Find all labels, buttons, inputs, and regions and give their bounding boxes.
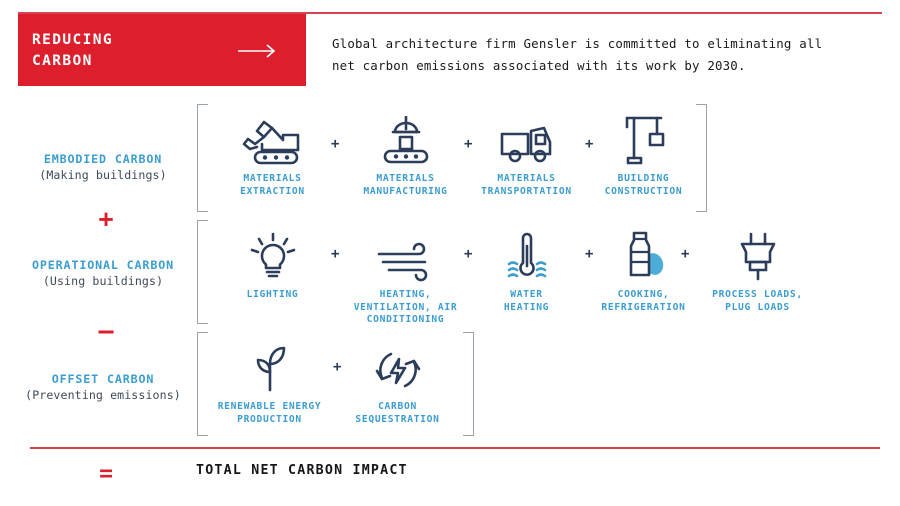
infographic-canvas: REDUCING CARBON Global architecture firm… — [0, 0, 900, 506]
arrow-right-icon — [238, 43, 280, 57]
total-net-carbon-impact-label: TOTAL NET CARBON IMPACT — [196, 463, 408, 478]
page-title: REDUCING CARBON — [32, 30, 113, 72]
lightbulb-icon — [215, 220, 330, 282]
plus-separator: + — [331, 247, 339, 261]
electric-plug-icon — [700, 220, 815, 282]
item-label: MATERIALS EXTRACTION — [215, 173, 330, 198]
item-label: RENEWABLE ENERGY PRODUCTION — [207, 401, 332, 426]
factory-robot-conveyor-icon — [348, 104, 463, 166]
item-label: CARBON SEQUESTRATION — [340, 401, 455, 426]
item-process-plug-loads: PROCESS LOADS, PLUG LOADS — [700, 220, 815, 314]
item-label: PROCESS LOADS, PLUG LOADS — [700, 289, 815, 314]
operator-plus: + — [86, 206, 126, 231]
dump-truck-icon — [469, 104, 584, 166]
header-description: Global architecture firm Gensler is comm… — [332, 33, 872, 77]
plus-separator: + — [681, 247, 689, 261]
item-hvac: HEATING, VENTILATION, AIR CONDITIONING — [348, 220, 463, 327]
item-building-construction: BUILDING CONSTRUCTION — [586, 104, 701, 198]
row-label-subtitle: (Using buildings) — [8, 273, 198, 289]
row-label-subtitle: (Making buildings) — [8, 167, 198, 183]
excavator-icon — [215, 104, 330, 166]
item-label: BUILDING CONSTRUCTION — [586, 173, 701, 198]
operator-equals: = — [86, 463, 126, 486]
thermometer-water-icon — [469, 220, 584, 282]
wind-airflow-icon — [348, 220, 463, 282]
row-label-title: OFFSET CARBON — [8, 372, 198, 387]
item-label: MATERIALS TRANSPORTATION — [469, 173, 584, 198]
sprout-leaf-icon — [207, 332, 332, 394]
operator-minus: – — [86, 318, 126, 343]
row-label-offset-carbon: OFFSET CARBON (Preventing emissions) — [8, 372, 198, 403]
row-label-embodied-carbon: EMBODIED CARBON (Making buildings) — [8, 152, 198, 183]
item-lighting: LIGHTING — [215, 220, 330, 302]
item-water-heating: WATER HEATING — [469, 220, 584, 314]
item-materials-extraction: MATERIALS EXTRACTION — [215, 104, 330, 198]
row-label-title: EMBODIED CARBON — [8, 152, 198, 167]
tower-crane-icon — [586, 104, 701, 166]
item-label: LIGHTING — [215, 289, 330, 302]
recycle-bolt-icon — [340, 332, 455, 394]
item-label: WATER HEATING — [469, 289, 584, 314]
item-label: HEATING, VENTILATION, AIR CONDITIONING — [348, 289, 463, 327]
item-materials-manufacturing: MATERIALS MANUFACTURING — [348, 104, 463, 198]
row-label-title: OPERATIONAL CARBON — [8, 258, 198, 273]
item-renewable-energy: RENEWABLE ENERGY PRODUCTION — [207, 332, 332, 426]
plus-separator: + — [331, 137, 339, 151]
item-label: COOKING, REFRIGERATION — [586, 289, 701, 314]
item-label: MATERIALS MANUFACTURING — [348, 173, 463, 198]
item-carbon-sequestration: CARBON SEQUESTRATION — [340, 332, 455, 426]
item-materials-transportation: MATERIALS TRANSPORTATION — [469, 104, 584, 198]
bottom-divider-rule — [30, 447, 880, 449]
row-label-operational-carbon: OPERATIONAL CARBON (Using buildings) — [8, 258, 198, 289]
item-cooking-refrigeration: COOKING, REFRIGERATION — [586, 220, 701, 314]
row-label-subtitle: (Preventing emissions) — [8, 387, 198, 403]
